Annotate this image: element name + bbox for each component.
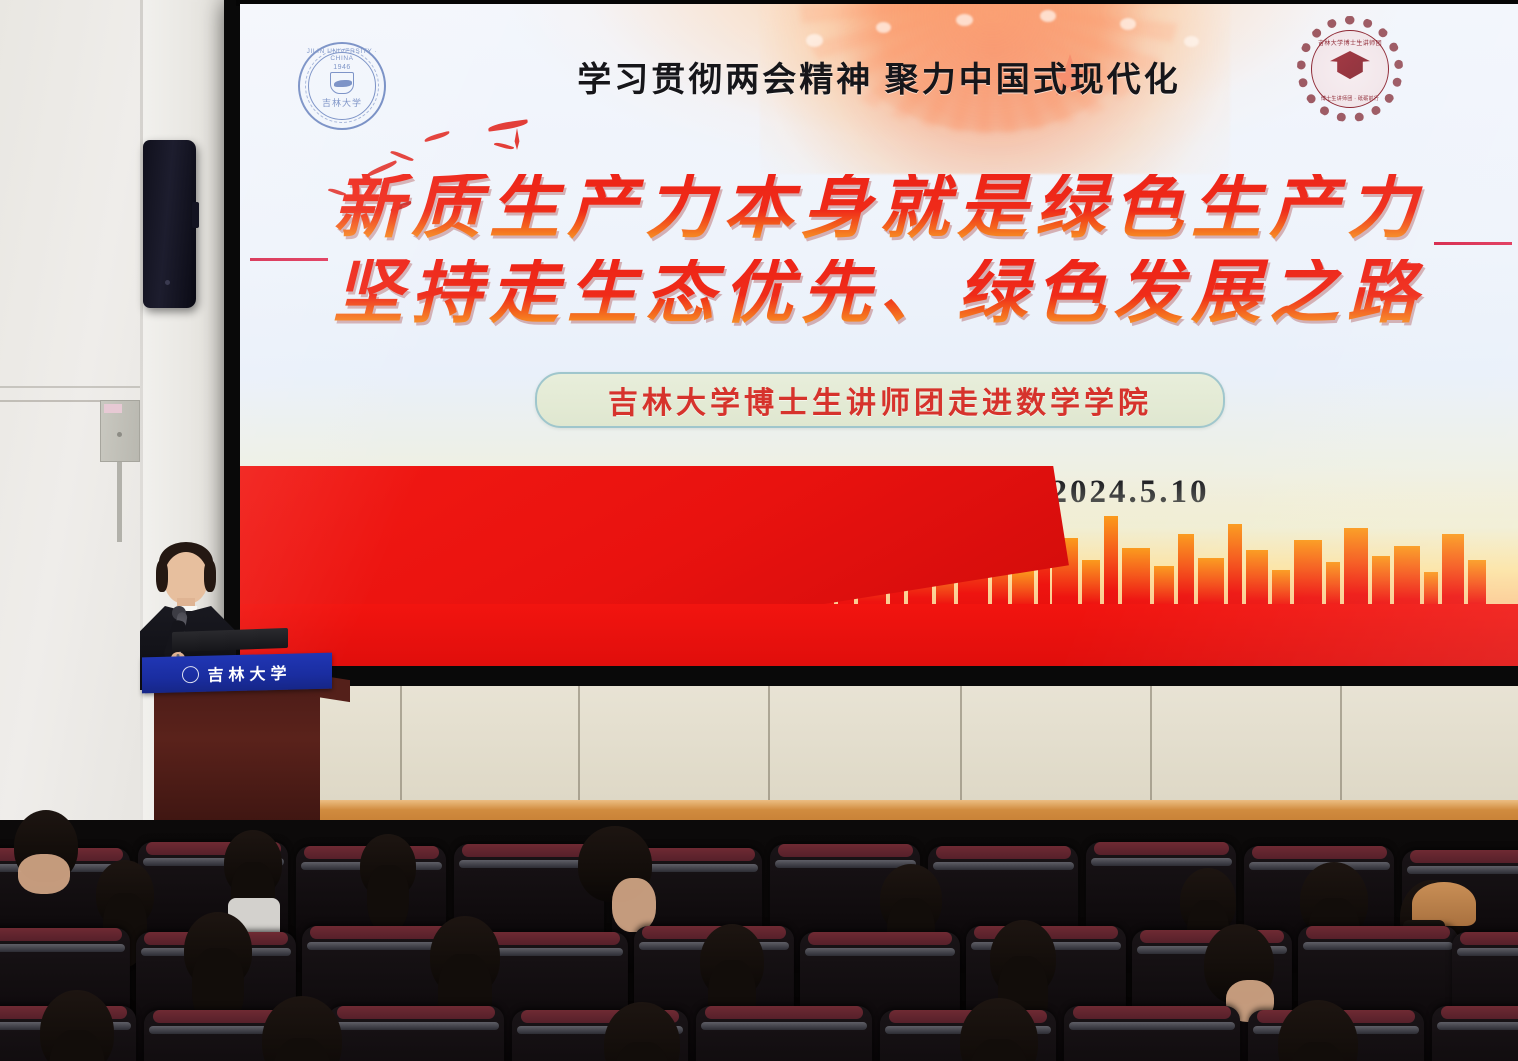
seat-headrest <box>1252 846 1387 859</box>
sun-bubble-icon <box>1184 36 1199 47</box>
electrical-conduit <box>117 462 122 542</box>
seat-headrest <box>1073 1006 1231 1019</box>
slide-title-line1: 新质生产力本身就是绿色生产力 <box>240 174 1518 244</box>
logo-top-text: 吉林大学博士生讲师团 <box>1297 38 1403 47</box>
seat-bar <box>1091 858 1232 866</box>
podium-front-panel: 吉林大学 <box>142 653 332 694</box>
audience-head <box>1180 868 1236 934</box>
seat-headrest <box>1410 850 1518 863</box>
audience-head <box>990 920 1056 996</box>
seat-bar <box>775 860 916 868</box>
sun-bubble-icon <box>876 22 891 33</box>
podium-body <box>154 689 320 830</box>
seat-bar <box>933 862 1074 870</box>
audience-head <box>96 860 154 928</box>
seat-headrest <box>936 846 1071 859</box>
slide-subtitle-text: 吉林大学博士生讲师团走进数学学院 <box>608 378 1152 422</box>
seat-bar <box>1457 948 1518 956</box>
seat-bar <box>0 944 125 952</box>
bird-icon <box>424 131 450 142</box>
stage-wall-panels <box>236 686 1518 802</box>
audience-face <box>612 878 656 932</box>
sun-bubble-icon <box>806 34 823 47</box>
panel-seam <box>578 686 580 802</box>
panel-seam <box>1340 686 1342 802</box>
seat-headrest <box>1460 932 1518 945</box>
seat-headrest <box>1094 842 1229 855</box>
seat-bar <box>1303 942 1453 950</box>
presenter-head <box>164 552 208 604</box>
panel-seam <box>960 686 962 802</box>
seat-bar <box>701 1022 866 1030</box>
electrical-box-screw-icon <box>117 432 122 437</box>
seat-headrest <box>310 926 454 939</box>
audience-head <box>430 916 500 996</box>
audience-head <box>224 830 282 896</box>
wall-speaker-icon <box>143 140 196 308</box>
audience-head <box>880 864 942 934</box>
audience-head <box>184 912 252 988</box>
slide-subtitle-box: 吉林大学博士生讲师团走进数学学院 <box>535 372 1225 428</box>
skyline-illustration <box>240 466 1518 666</box>
jlu-seal-icon <box>182 665 199 682</box>
audience-head <box>360 834 416 898</box>
slide-title-line2: 坚持走生态优先、绿色发展之路 <box>240 259 1518 329</box>
slide-header-text: 学习贯彻两会精神 聚力中国式现代化 <box>240 52 1518 101</box>
sun-bubble-icon <box>1040 10 1056 22</box>
panel-seam <box>768 686 770 802</box>
seat <box>696 1006 872 1061</box>
seat <box>1064 1006 1240 1061</box>
seat-headrest <box>1306 926 1450 939</box>
seat-headrest <box>0 928 122 941</box>
seat-bar <box>1437 1022 1518 1030</box>
presenter-hair-side <box>204 560 216 592</box>
stage-floor-highlight <box>236 800 1518 810</box>
podium-label: 吉林大学 <box>207 660 291 686</box>
seat-bar <box>1069 1022 1234 1030</box>
panel-seam <box>400 686 402 802</box>
laptop <box>172 628 288 652</box>
sun-bubble-icon <box>1120 18 1136 30</box>
sun-bubble-icon <box>956 14 973 26</box>
presenter-hair-side <box>156 560 168 592</box>
seat-headrest <box>337 1006 495 1019</box>
bird-icon <box>494 141 514 151</box>
wall-seam <box>0 400 100 402</box>
seat-bar <box>333 1022 498 1030</box>
bird-icon <box>488 119 529 131</box>
electrical-box-label <box>104 404 122 413</box>
seat <box>1432 1006 1518 1061</box>
audience-cap <box>1412 882 1476 926</box>
audience-area <box>0 820 1518 1061</box>
seat-headrest <box>705 1006 863 1019</box>
speaker-led-icon <box>165 280 170 285</box>
seat-bar <box>1407 866 1518 874</box>
red-base-band <box>240 604 1518 666</box>
seat-headrest <box>462 844 597 857</box>
podium: 吉林大学 <box>142 655 332 830</box>
led-screen[interactable]: JILIN UNIVERSITY · CHINA 1946 吉林大学 吉林大学博… <box>240 4 1518 666</box>
audience-head <box>700 924 764 998</box>
seat-bar <box>805 948 955 956</box>
audience-face <box>18 854 70 894</box>
seat-headrest <box>808 932 952 945</box>
seat-headrest <box>778 844 913 857</box>
panel-seam <box>1150 686 1152 802</box>
seat <box>328 1006 504 1061</box>
seat-headrest <box>1441 1006 1518 1019</box>
auditorium-scene: JILIN UNIVERSITY · CHINA 1946 吉林大学 吉林大学博… <box>0 0 1518 1061</box>
